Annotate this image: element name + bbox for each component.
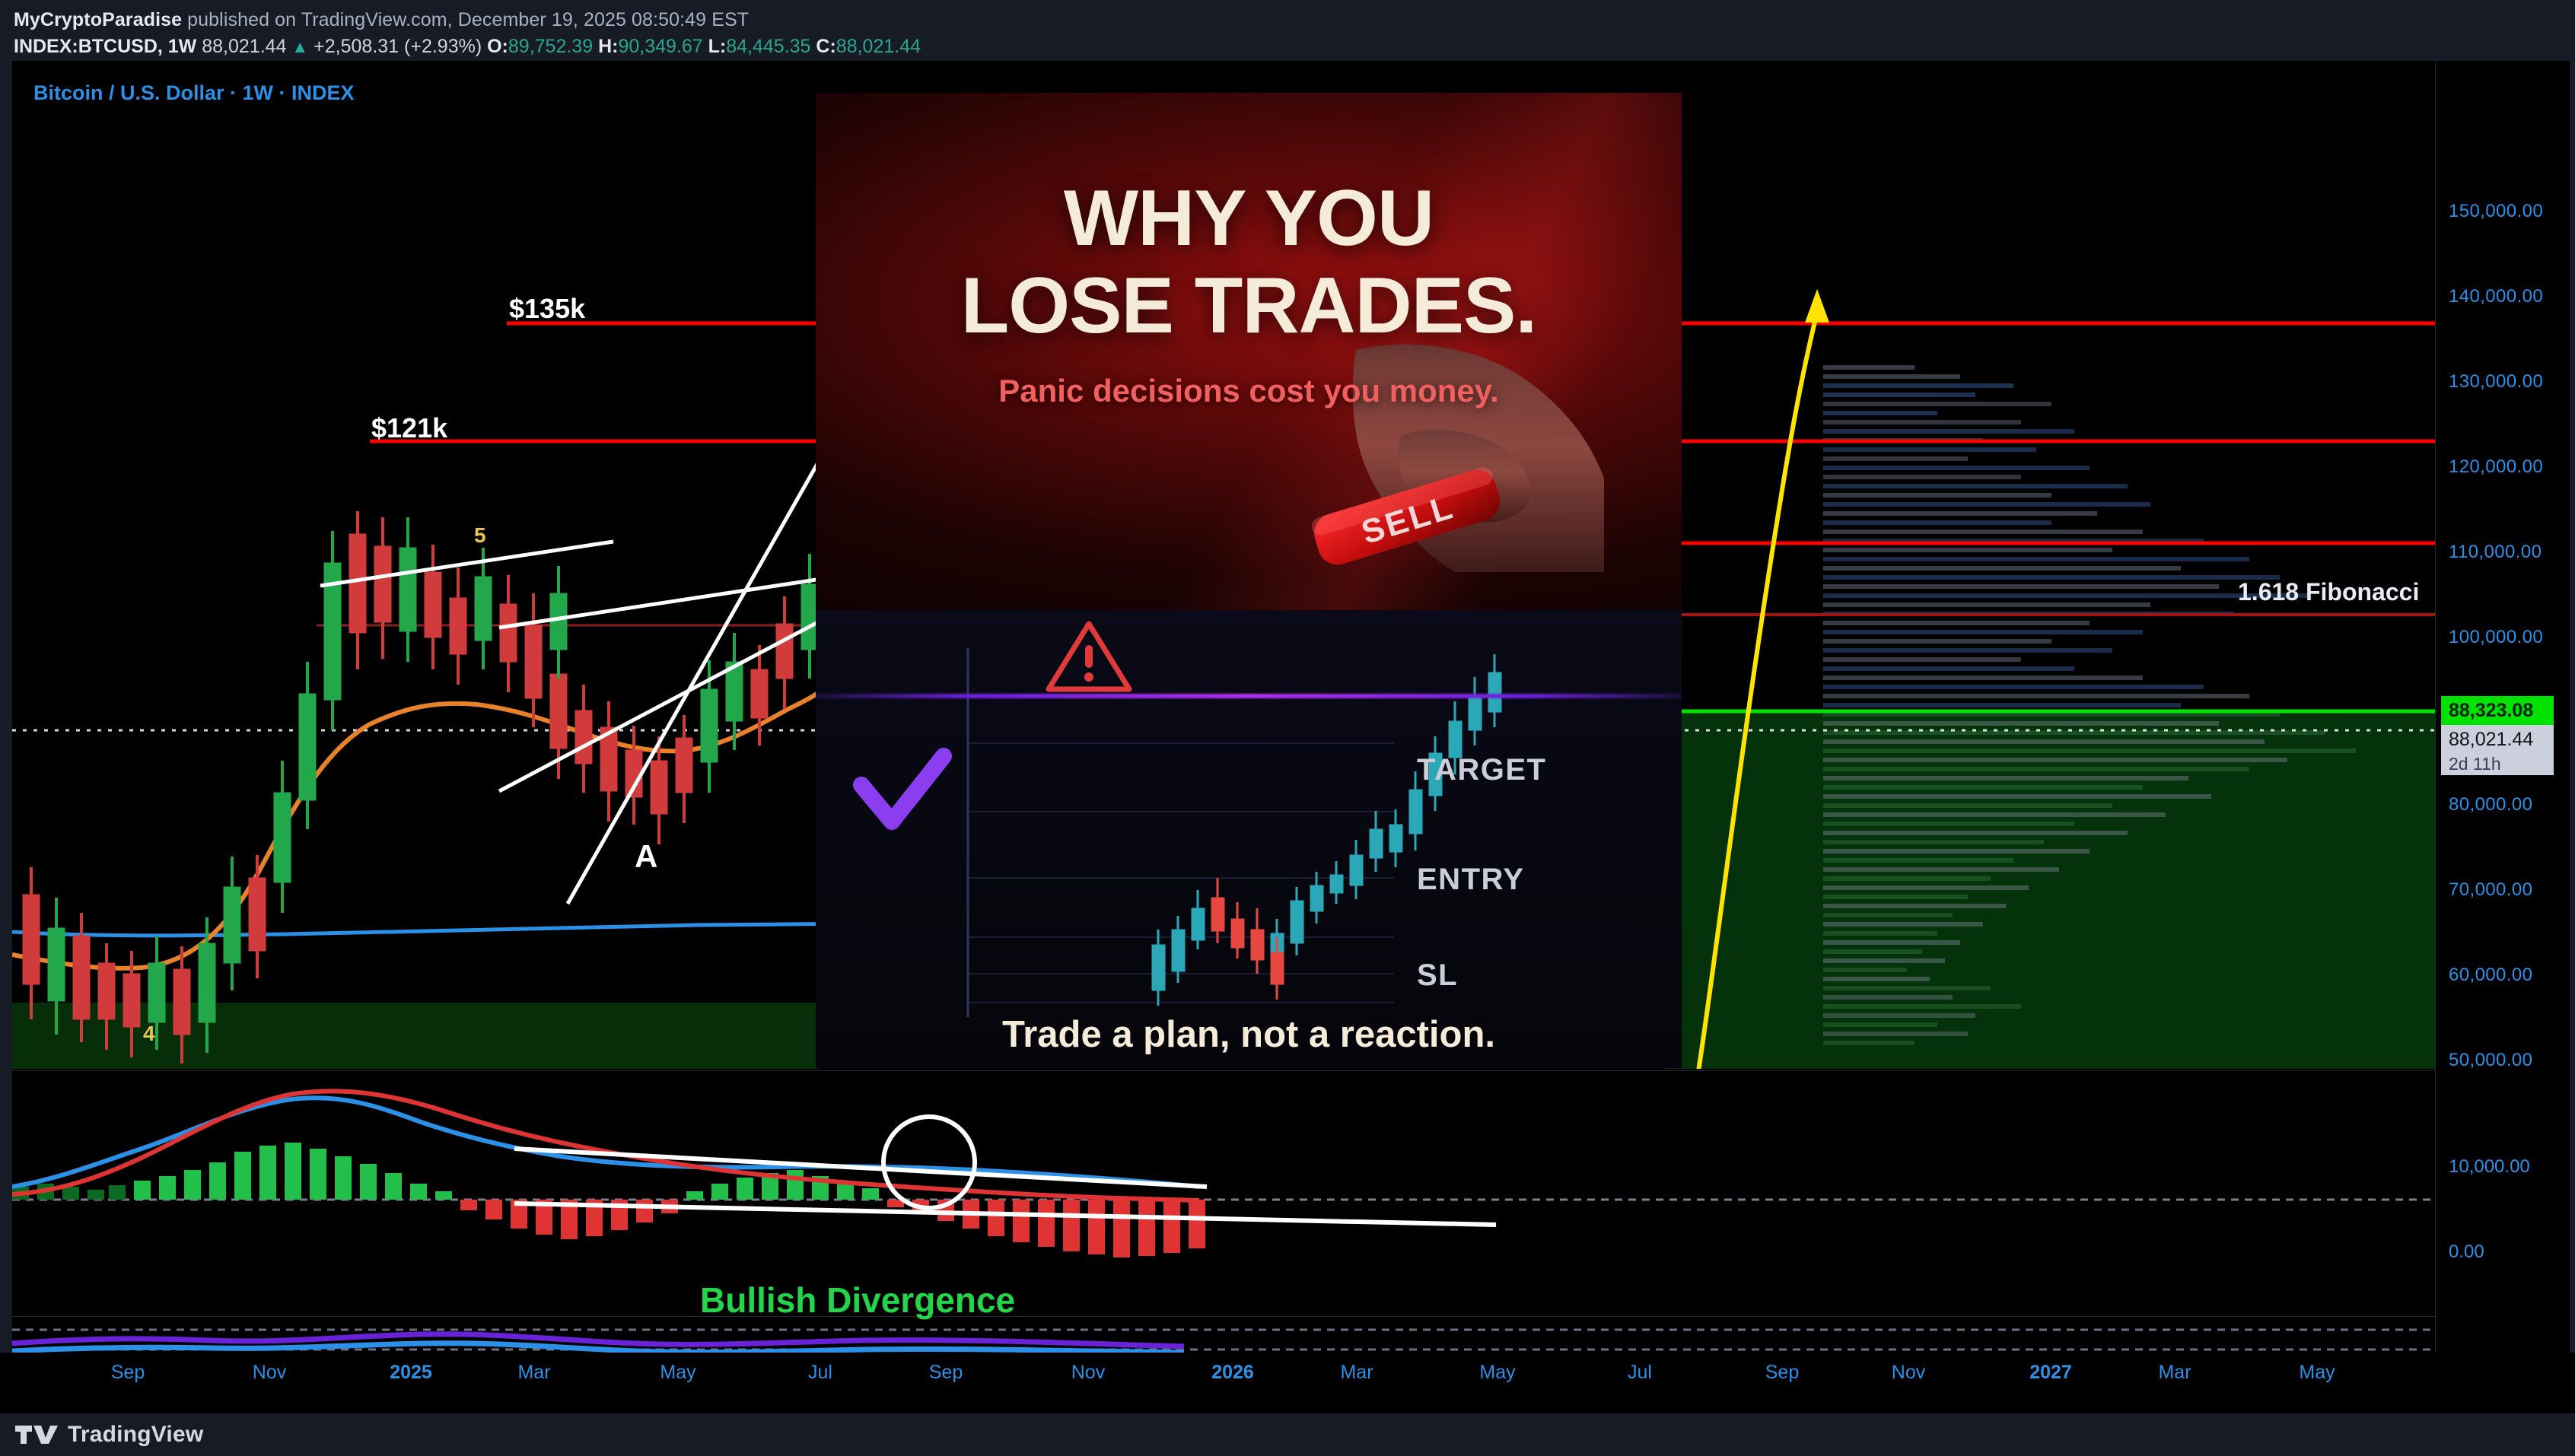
high-label: H: xyxy=(598,36,618,57)
chart-header-bar: MyCryptoParadise published on TradingVie… xyxy=(0,0,2575,61)
x-tick-3: Mar xyxy=(517,1362,550,1384)
chart-legend-title[interactable]: Bitcoin / U.S. Dollar · 1W · INDEX xyxy=(33,81,355,105)
x-tick-5: Jul xyxy=(808,1362,832,1384)
x-tick-13: Nov xyxy=(1892,1362,1925,1384)
low-label: L: xyxy=(708,36,727,57)
x-tick-10: May xyxy=(1479,1362,1515,1384)
promo-level-entry: ENTRY xyxy=(1417,863,1525,897)
y-tick-60000: 60,000.00 xyxy=(2449,965,2532,986)
warning-triangle-icon xyxy=(1044,618,1134,694)
left-toolbar-gutter xyxy=(0,61,12,1413)
last-price: 88,021.44 xyxy=(202,36,286,57)
price-badge-countdown: 2d 11h xyxy=(2449,752,2554,776)
wave-label-4: 4 xyxy=(143,1022,155,1046)
open-label: O: xyxy=(487,36,508,57)
candlestick-series xyxy=(23,511,818,1063)
promo-gradient-divider xyxy=(816,694,1682,698)
price-change: +2,508.31 (+2.93%) xyxy=(314,36,482,57)
y-tick-80000: 80,000.00 xyxy=(2449,794,2532,815)
divergence-label: Bullish Divergence xyxy=(700,1280,1015,1321)
y-tick-100000: 100,000.00 xyxy=(2449,627,2543,648)
low-value: 84,445.35 xyxy=(726,36,810,57)
y-tick-50000: 50,000.00 xyxy=(2449,1050,2532,1071)
promo-level-sl: SL xyxy=(1417,958,1458,993)
y-tick-110000: 110,000.00 xyxy=(2449,542,2542,563)
purple-check-icon xyxy=(861,756,944,822)
promo-title-line1: WHY YOU xyxy=(816,175,1682,262)
y-tick-70000: 70,000.00 xyxy=(2449,879,2532,901)
publication-meta: published on TradingView.com, December 1… xyxy=(182,9,749,30)
wave-label-a: A xyxy=(635,838,657,875)
x-tick-7: Nov xyxy=(1071,1362,1105,1384)
price-label-121k: $121k xyxy=(371,412,447,444)
x-tick-11: Jul xyxy=(1628,1362,1652,1384)
pane-divider-2 xyxy=(12,1316,2435,1317)
price-badge-last-value: 88,021.44 xyxy=(2449,727,2554,752)
promo-tagline: Trade a plan, not a reaction. xyxy=(816,1013,1682,1056)
y-tick-150000: 150,000.00 xyxy=(2449,201,2543,222)
footer-bar: TradingView xyxy=(0,1413,2575,1456)
promotional-overlay-image[interactable]: SELL WHY YOU LOSE TRADES. Panic decision… xyxy=(816,93,1682,1068)
author-name: MyCryptoParadise xyxy=(14,9,182,30)
x-tick-9: Mar xyxy=(1340,1362,1373,1384)
promo-title: WHY YOU LOSE TRADES. xyxy=(816,175,1682,350)
tradingview-logo-icon xyxy=(15,1423,59,1447)
macd-axis-zero: 0.00 xyxy=(2449,1241,2484,1263)
price-label-135k: $135k xyxy=(509,293,585,325)
macd-graphics xyxy=(12,1073,2435,1316)
symbol-ticker[interactable]: INDEX:BTCUSD, 1W xyxy=(14,36,196,57)
x-tick-6: Sep xyxy=(929,1362,963,1384)
x-tick-8: 2026 xyxy=(1211,1362,1254,1384)
macd-axis-top: 10,000.00 xyxy=(2449,1156,2530,1178)
high-value: 90,349.67 xyxy=(618,36,702,57)
x-tick-4: May xyxy=(660,1362,695,1384)
price-badge-high: 88,323.08 xyxy=(2441,696,2554,725)
price-badge-last: 88,021.44 2d 11h xyxy=(2441,725,2554,775)
tradingview-logo[interactable]: TradingView xyxy=(15,1422,203,1448)
time-axis[interactable]: Sep Nov 2025 Mar May Jul Sep Nov 2026 Ma… xyxy=(0,1353,2575,1413)
x-tick-12: Sep xyxy=(1765,1362,1799,1384)
x-tick-1: Nov xyxy=(253,1362,286,1384)
triangle-up-icon: ▲ xyxy=(291,37,308,56)
symbol-quote-line: INDEX:BTCUSD, 1W 88,021.44 ▲ +2,508.31 (… xyxy=(14,36,921,58)
macd-pane[interactable] xyxy=(12,1073,2435,1316)
wave-label-5: 5 xyxy=(474,523,486,548)
promo-subtitle: Panic decisions cost you money. xyxy=(816,373,1682,409)
fibonacci-label: 1.618 Fibonacci xyxy=(2238,578,2419,606)
x-tick-14: 2027 xyxy=(2029,1362,2072,1384)
promo-level-target: TARGET xyxy=(1417,753,1546,787)
x-tick-2: 2025 xyxy=(390,1362,432,1384)
divergence-circle-marker xyxy=(883,1117,975,1208)
y-tick-140000: 140,000.00 xyxy=(2449,286,2543,307)
x-tick-15: Mar xyxy=(2158,1362,2191,1384)
promo-title-line2: LOSE TRADES. xyxy=(816,262,1682,350)
x-tick-16: May xyxy=(2299,1362,2335,1384)
pane-divider-1 xyxy=(12,1070,2435,1071)
close-value: 88,021.44 xyxy=(836,36,921,57)
close-label: C: xyxy=(816,36,836,57)
right-edge-gutter xyxy=(2570,61,2575,1413)
tradingview-wordmark: TradingView xyxy=(68,1422,203,1448)
y-tick-130000: 130,000.00 xyxy=(2449,371,2543,393)
divergence-line-1 xyxy=(514,1149,1207,1187)
y-tick-120000: 120,000.00 xyxy=(2449,456,2543,478)
x-tick-0: Sep xyxy=(111,1362,145,1384)
divergence-line-2 xyxy=(514,1203,1496,1225)
open-value: 89,752.39 xyxy=(508,36,593,57)
publication-line: MyCryptoParadise published on TradingVie… xyxy=(14,9,749,31)
